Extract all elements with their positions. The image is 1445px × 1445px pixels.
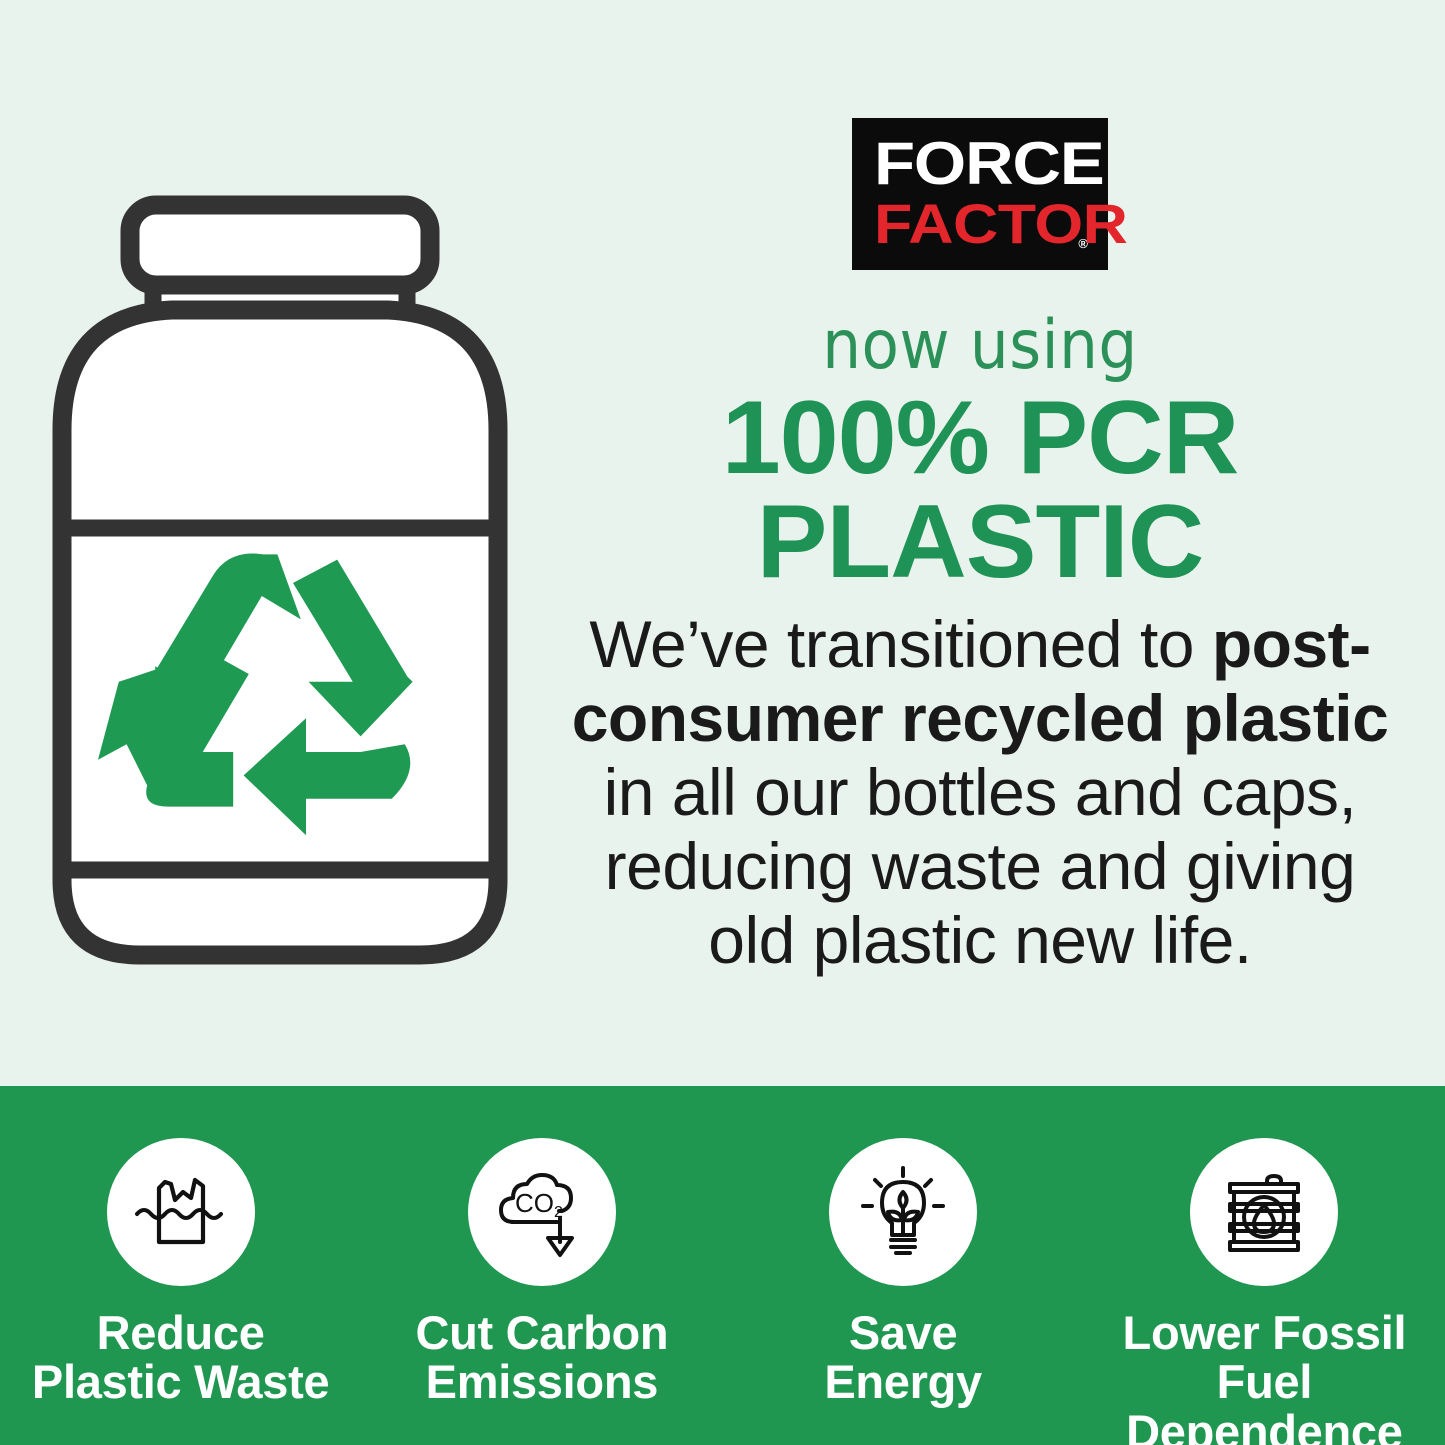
force-factor-logo: FORCE ® FACTOR [852, 118, 1108, 270]
eyebrow-text: now using [530, 312, 1430, 380]
benefit-label: Save Energy [824, 1308, 982, 1407]
benefits-list: Reduce Plastic Waste CO 2 Cut Carbon Emi… [0, 1086, 1445, 1445]
benefit-icon-badge [829, 1138, 977, 1286]
logo-force-text: FORCE [874, 134, 1111, 194]
benefit-label: Lower Fossil Fuel Dependence [1084, 1308, 1445, 1445]
hero-content: FORCE ® FACTOR now using 100% PCR PLASTI… [530, 118, 1430, 978]
benefit-icon-badge [1190, 1138, 1338, 1286]
benefit-save-energy: Save Energy [723, 1138, 1084, 1407]
pcr-plastic-infographic: FORCE ® FACTOR now using 100% PCR PLASTI… [0, 0, 1445, 1445]
oil-barrel-droplet-icon [1212, 1160, 1316, 1264]
water-waves [137, 1210, 221, 1218]
benefit-cut-carbon-emissions: CO 2 Cut Carbon Emissions [361, 1138, 722, 1407]
co2-cloud-down-arrow-icon: CO 2 [490, 1160, 594, 1264]
paragraph-line-1: We’ve transitioned to [589, 607, 1194, 681]
headline-text: 100% PCR PLASTIC [521, 386, 1439, 594]
benefit-reduce-plastic-waste: Reduce Plastic Waste [0, 1138, 361, 1407]
logo-factor-text: FACTOR [874, 196, 1111, 252]
benefit-icon-badge [107, 1138, 255, 1286]
co2-label: CO [515, 1188, 554, 1218]
plastic-bag-in-water-icon [129, 1160, 233, 1264]
benefits-banner: Reduce Plastic Waste CO 2 Cut Carbon Emi… [0, 1086, 1445, 1445]
lightbulb-with-sprout-icon [851, 1160, 955, 1264]
benefit-lower-fossil-fuel-dependence: Lower Fossil Fuel Dependence [1084, 1138, 1445, 1445]
benefit-icon-badge: CO 2 [468, 1138, 616, 1286]
supplement-bottle-illustration [40, 180, 520, 980]
paragraph-remainder: in all our bottles and caps, reducing wa… [604, 755, 1357, 977]
top-section: FORCE ® FACTOR now using 100% PCR PLASTI… [0, 0, 1445, 1086]
bottle-svg [40, 180, 520, 980]
body-paragraph: We’ve transitioned to post-consumer recy… [530, 608, 1430, 978]
benefit-label: Cut Carbon Emissions [415, 1308, 668, 1407]
benefit-label: Reduce Plastic Waste [32, 1308, 329, 1407]
